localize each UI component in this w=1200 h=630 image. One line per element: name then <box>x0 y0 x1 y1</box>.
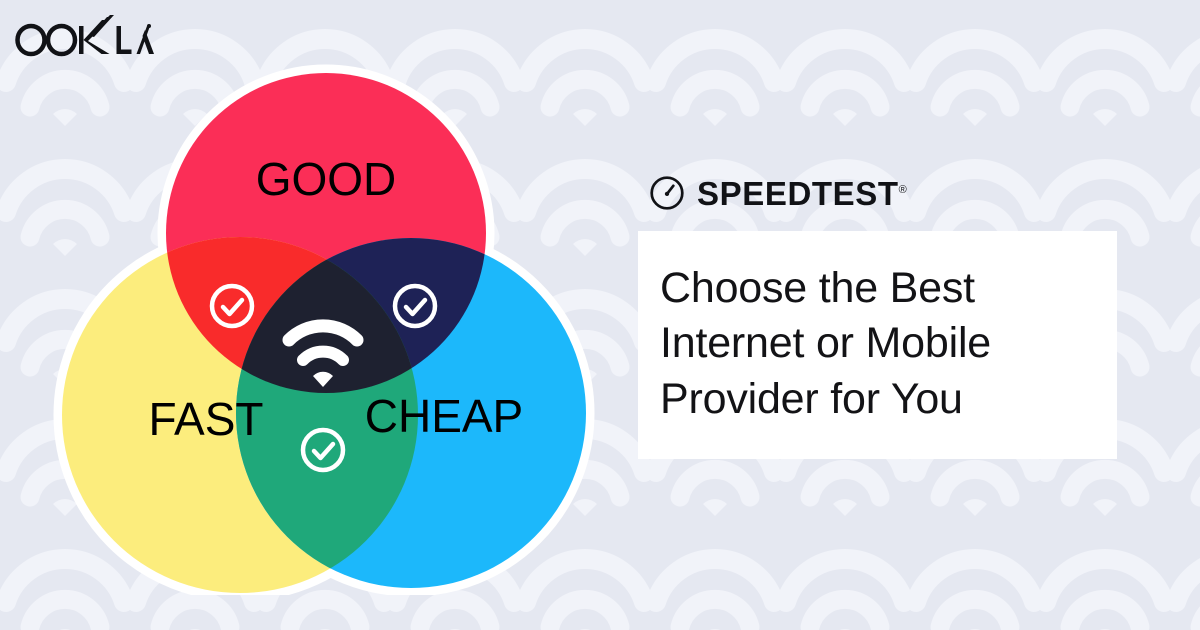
gauge-icon <box>649 175 685 211</box>
headline-card: Choose the Best Internet or Mobile Provi… <box>638 231 1117 459</box>
speedtest-wordmark-text: SPEEDTEST <box>697 175 899 212</box>
registered-trademark-mark: ® <box>899 184 907 196</box>
venn-diagram: GOOD FAST CHEAP <box>40 55 620 595</box>
venn-label-cheap: CHEAP <box>365 390 523 442</box>
right-content-column: SPEEDTEST® Choose the Best Internet or M… <box>638 170 1138 459</box>
venn-label-good: GOOD <box>256 153 397 205</box>
speedtest-logo: SPEEDTEST® <box>649 170 1138 216</box>
page-title: Choose the Best Internet or Mobile Provi… <box>660 261 1089 427</box>
ookla-logo <box>14 15 154 59</box>
speedtest-wordmark: SPEEDTEST® <box>697 177 907 210</box>
venn-label-fast: FAST <box>148 393 263 445</box>
poster-canvas: GOOD FAST CHEAP <box>0 0 1200 630</box>
